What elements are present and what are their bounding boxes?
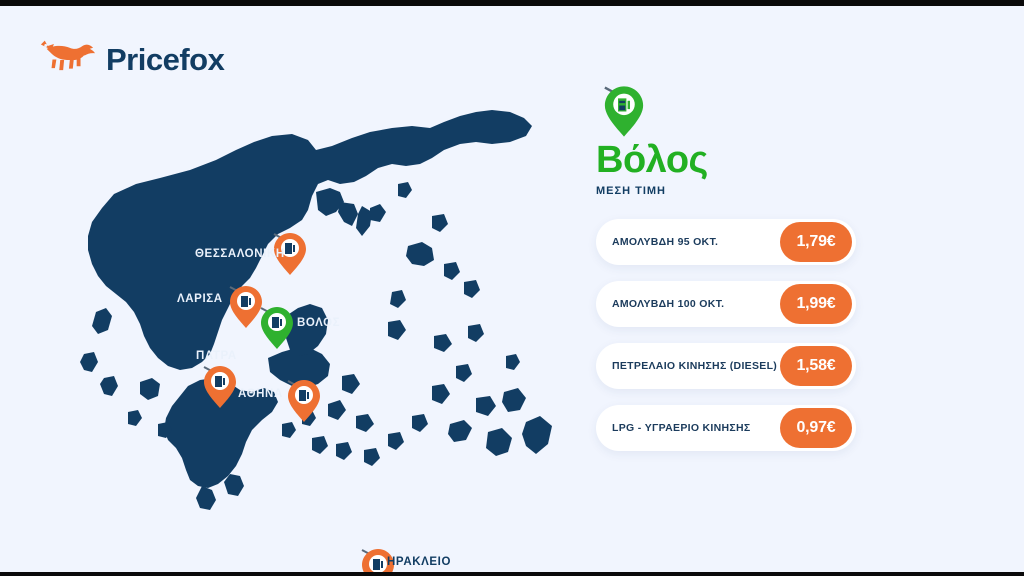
fuel-price-list: ΑΜΟΛΥΒΔΗ 95 ΟΚΤ. 1,79€ ΑΜΟΛΥΒΔΗ 100 ΟΚΤ.… xyxy=(596,219,856,451)
map-label-patra: ΠΑΤΡΑ xyxy=(196,350,237,362)
map-pin-athina[interactable] xyxy=(286,378,322,424)
fuel-price-badge: 1,79€ xyxy=(780,222,852,262)
fuel-type-label: ΠΕΤΡΕΛΑΙΟ ΚΙΝΗΣΗΣ (DIESEL) xyxy=(612,360,777,372)
brand-logo: Pricefox xyxy=(38,38,224,80)
map-label-volos: ΒΟΛΟΣ xyxy=(297,317,340,329)
greece-map[interactable]: ΘΕΣΣΑΛΟΝΙΚΗ ΛΑΡΙΣΑ ΒΟΛΟΣ xyxy=(40,86,580,556)
map-label-irakleio: ΗΡΑΚΛΕΙΟ xyxy=(387,556,451,568)
fuel-pump-pin-icon xyxy=(259,305,295,351)
brand-name: Pricefox xyxy=(106,44,224,75)
fuel-type-label: LPG - ΥΓΡΑΕΡΙΟ ΚΙΝΗΣΗΣ xyxy=(612,422,751,434)
fuel-price-badge: 1,99€ xyxy=(780,284,852,324)
fuel-price-badge: 1,58€ xyxy=(780,346,852,386)
city-price-panel: Βόλος ΜΕΣΗ ΤΙΜΗ ΑΜΟΛΥΒΔΗ 95 ΟΚΤ. 1,79€ Α… xyxy=(596,84,856,451)
fuel-price-row[interactable]: ΑΜΟΛΥΒΔΗ 95 ΟΚΤ. 1,79€ xyxy=(596,219,856,265)
app-canvas: Pricefox xyxy=(0,6,1024,572)
fuel-price-row[interactable]: ΑΜΟΛΥΒΔΗ 100 ΟΚΤ. 1,99€ xyxy=(596,281,856,327)
fox-icon xyxy=(38,38,96,80)
map-label-athina: ΑΘΗΝΑ xyxy=(238,388,283,400)
fuel-price-row[interactable]: ΠΕΤΡΕΛΑΙΟ ΚΙΝΗΣΗΣ (DIESEL) 1,58€ xyxy=(596,343,856,389)
panel-subtitle: ΜΕΣΗ ΤΙΜΗ xyxy=(596,185,856,197)
fuel-price-badge: 0,97€ xyxy=(780,408,852,448)
fuel-type-label: ΑΜΟΛΥΒΔΗ 100 ΟΚΤ. xyxy=(612,298,724,310)
fuel-price-row[interactable]: LPG - ΥΓΡΑΕΡΙΟ ΚΙΝΗΣΗΣ 0,97€ xyxy=(596,405,856,451)
map-label-thessaloniki: ΘΕΣΣΑΛΟΝΙΚΗ xyxy=(195,248,285,260)
map-pin-patra[interactable] xyxy=(202,364,238,410)
fuel-pump-pin-icon xyxy=(286,378,322,424)
map-label-larisa: ΛΑΡΙΣΑ xyxy=(177,293,223,305)
fuel-type-label: ΑΜΟΛΥΒΔΗ 95 ΟΚΤ. xyxy=(612,236,718,248)
panel-city-name: Βόλος xyxy=(596,141,856,179)
screen: Pricefox xyxy=(0,0,1024,576)
fuel-pump-pin-icon xyxy=(602,84,646,139)
fuel-pump-pin-icon xyxy=(202,364,238,410)
map-pin-volos[interactable] xyxy=(259,305,295,351)
